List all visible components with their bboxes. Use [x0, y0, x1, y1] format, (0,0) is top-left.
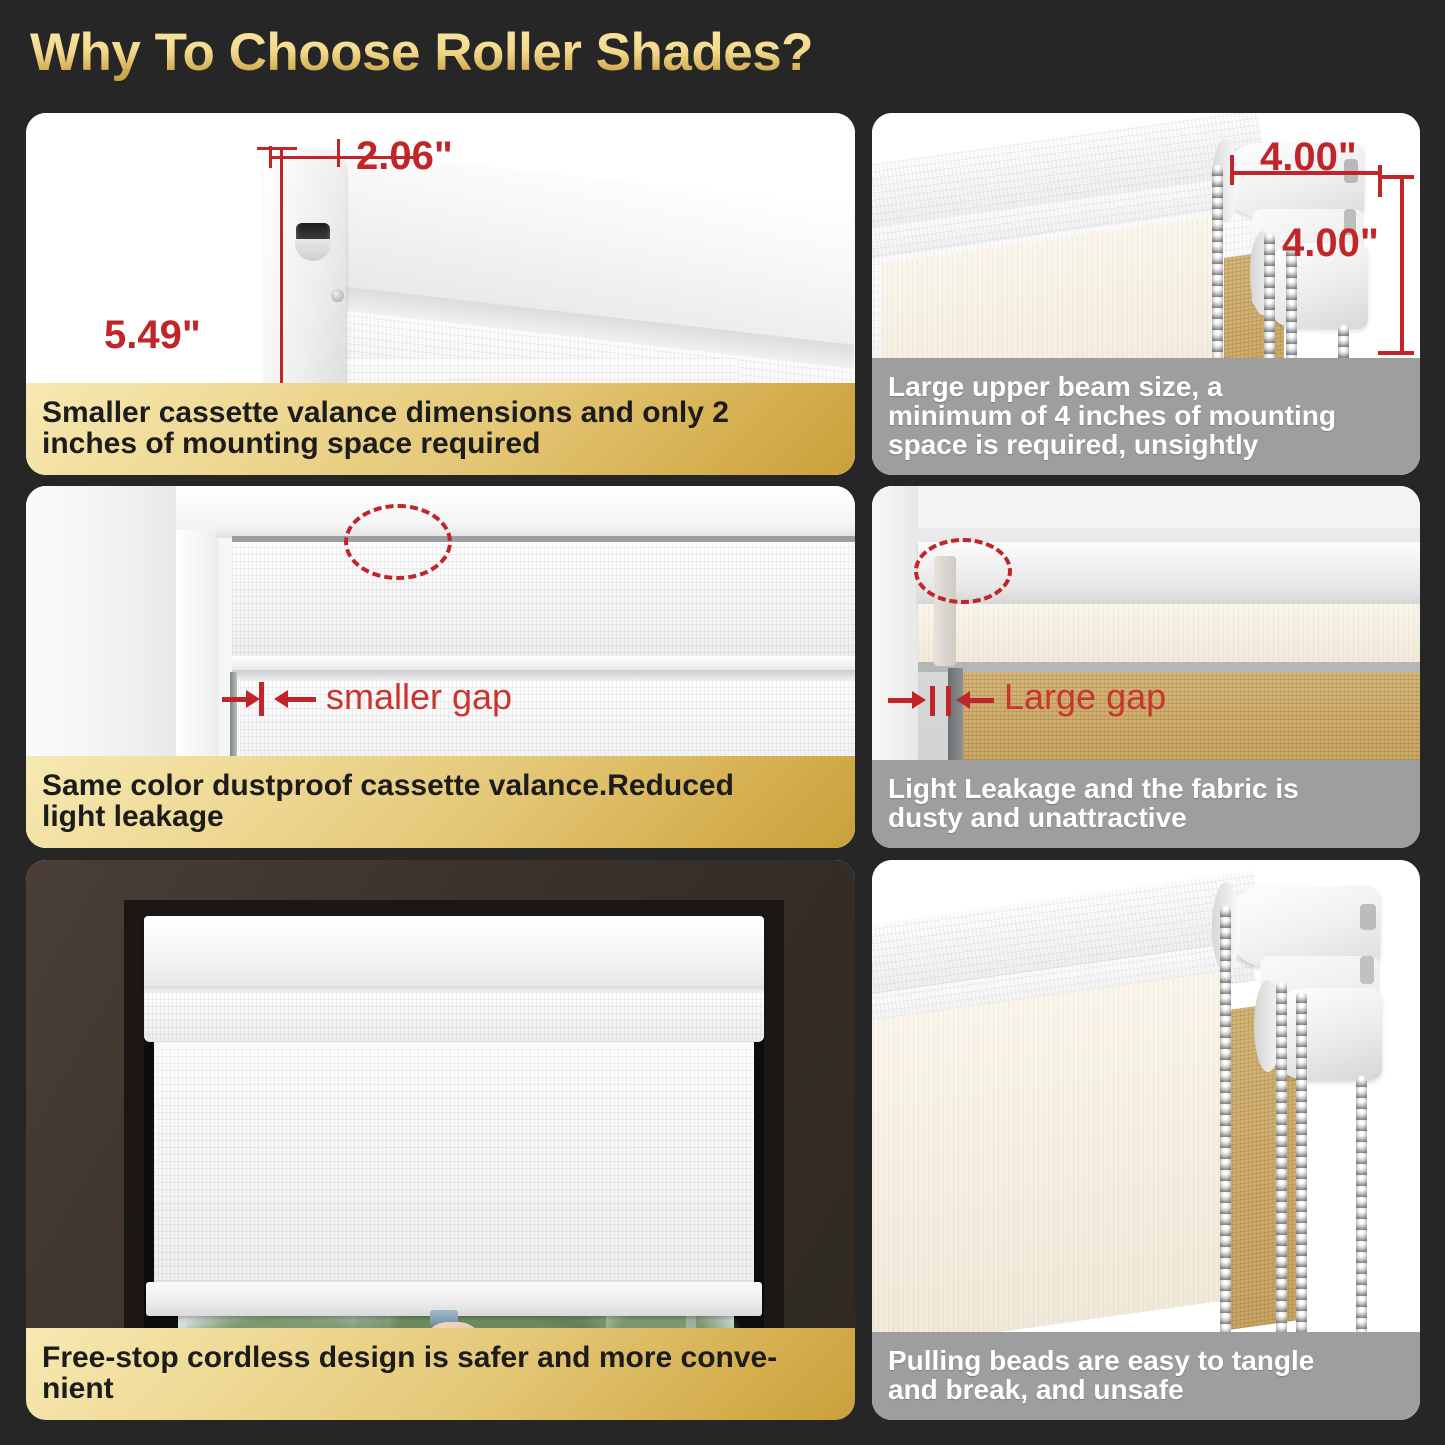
panel-cordless-design: Free-stop cordless design is safer and m…	[26, 860, 855, 1420]
caption-line: light leakage	[42, 801, 839, 832]
caption-line: nient	[42, 1373, 839, 1404]
caption-line: Pulling beads are easy to tangle	[888, 1346, 1404, 1375]
caption-line: inches of mounting space required	[42, 428, 839, 459]
gap-arrow-right-shaft	[968, 698, 994, 703]
gap-arrow-left-head	[912, 691, 926, 709]
caption-line: dusty and unattractive	[888, 803, 1404, 832]
panel-light-leakage: Large gap Light Leakage and the fabric i…	[872, 486, 1420, 848]
callout-ellipse	[344, 504, 452, 580]
panel-large-upper-beam: 4.00" 4.00" Large upper beam size, a min…	[872, 113, 1420, 475]
caption-bar: Light Leakage and the fabric is dusty an…	[872, 760, 1420, 848]
gap-arrow-right-head	[274, 690, 288, 708]
caption-bar: Pulling beads are easy to tangle and bre…	[872, 1332, 1420, 1420]
gap-arrow-left-shaft	[888, 698, 914, 703]
caption-line: minimum of 4 inches of mounting	[888, 401, 1404, 430]
caption-bar: Free-stop cordless design is safer and m…	[26, 1328, 855, 1420]
page-title: Why To Choose Roller Shades?	[30, 22, 813, 83]
shade-fabric	[872, 970, 1230, 1352]
gap-marker	[946, 686, 951, 716]
gap-marker	[930, 686, 935, 716]
beam-height-line	[1400, 175, 1404, 355]
infographic-page: Why To Choose Roller Shades? 2.06"	[0, 0, 1445, 1445]
callout-ellipse	[914, 538, 1012, 604]
beam-width-tick-left	[1230, 155, 1234, 185]
height-dimension-tick-top	[257, 147, 297, 150]
caption-line: Same color dustproof cassette valance.Re…	[42, 770, 839, 801]
bead-chain	[1356, 1076, 1367, 1336]
caption-line: Light Leakage and the fabric is	[888, 774, 1404, 803]
beam-height-label: 4.00"	[1282, 221, 1379, 266]
gap-arrow-right-shaft	[288, 697, 316, 702]
caption-line: and break, and unsafe	[888, 1375, 1404, 1404]
caption-line: Large upper beam size, a	[888, 372, 1404, 401]
gap-callout-label: smaller gap	[326, 676, 512, 718]
width-dimension-tick-right	[337, 139, 340, 167]
beam-height-tick-top	[1378, 175, 1414, 179]
caption-line: Free-stop cordless design is safer and m…	[42, 1342, 839, 1373]
caption-bar: Large upper beam size, a minimum of 4 in…	[872, 358, 1420, 475]
caption-bar: Smaller cassette valance dimensions and …	[26, 383, 855, 475]
shade-fabric	[154, 1042, 754, 1288]
gap-callout-label: Large gap	[1004, 676, 1166, 718]
beam-width-tick-right	[1378, 165, 1382, 197]
width-dimension-label: 2.06"	[356, 134, 453, 179]
panel-dustproof-valance: smaller gap Same color dustproof cassett…	[26, 486, 855, 848]
caption-line: space is required, unsightly	[888, 430, 1404, 459]
caption-line: Smaller cassette valance dimensions and …	[42, 397, 839, 428]
caption-bar: Same color dustproof cassette valance.Re…	[26, 756, 855, 848]
gap-arrow-left-head	[246, 690, 260, 708]
light-gap-strip	[948, 668, 963, 772]
bead-chain	[1276, 982, 1287, 1336]
panel-pulling-beads: Pulling beads are easy to tangle and bre…	[872, 860, 1420, 1420]
gap-arrow-right-head	[956, 691, 970, 709]
height-dimension-label: 5.49"	[104, 313, 201, 358]
beam-height-tick-bottom	[1378, 351, 1414, 355]
height-dimension-line	[280, 147, 283, 421]
beam-width-label: 4.00"	[1260, 135, 1357, 180]
bead-chain	[1296, 992, 1307, 1336]
panel-cassette-dimensions: 2.06" 5.49" Smaller cassette valance dim…	[26, 113, 855, 475]
bead-chain	[1220, 906, 1231, 1336]
